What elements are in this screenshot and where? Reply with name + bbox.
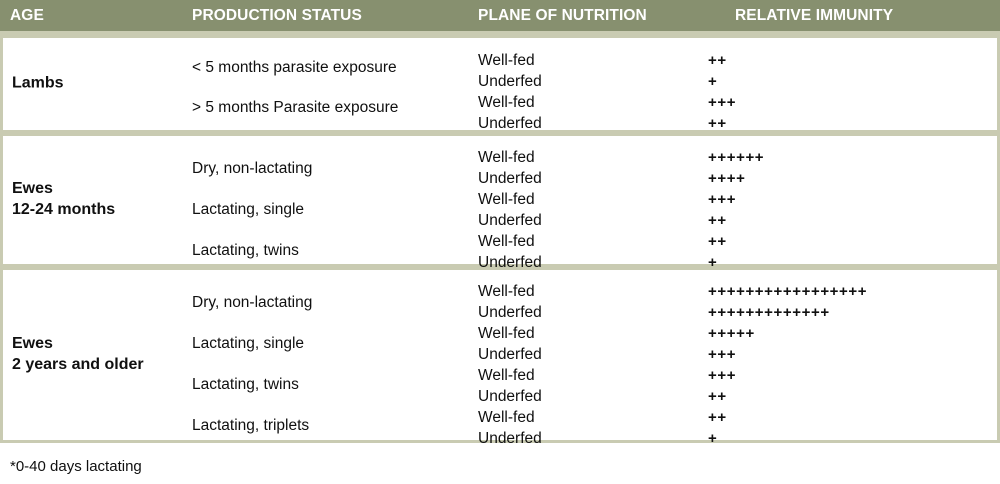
relative-immunity-cell: ++ [708,410,727,425]
relative-immunity-table: AGE PRODUCTION STATUS PLANE OF NUTRITION… [0,0,1000,484]
relative-immunity-cell: +++ [708,368,736,383]
production-status-cell: Lactating, twins [192,377,299,393]
relative-immunity-cell: ++ [708,389,727,404]
plane-of-nutrition-cell: Underfed [478,347,542,363]
production-status-cell: Dry, non-lactating [192,161,312,177]
plane-of-nutrition-cell: Well-fed [478,53,535,69]
age-label: Lambs [12,74,64,95]
production-status-cell: < 5 months parasite exposure [192,60,397,76]
relative-immunity-cell: +++ [708,95,736,110]
production-status-column: Dry, non-lactating Lactating, single Lac… [192,270,472,440]
plane-of-nutrition-cell: Underfed [478,116,542,132]
production-status-column: Dry, non-lactating Lactating, single Lac… [192,136,472,264]
relative-immunity-cell: ++ [708,213,727,228]
relative-immunity-cell: +++++++++++++ [708,305,830,320]
section-border-left [0,38,3,130]
relative-immunity-cell: ++++ [708,171,745,186]
plane-of-nutrition-cell: Well-fed [478,234,535,250]
column-header-plane-of-nutrition: PLANE OF NUTRITION [478,7,647,25]
relative-immunity-cell: +++ [708,192,736,207]
plane-of-nutrition-cell: Well-fed [478,284,535,300]
table-header-row: AGE PRODUCTION STATUS PLANE OF NUTRITION… [0,0,1000,31]
plane-of-nutrition-cell: Underfed [478,389,542,405]
table-section-ewes-12-24-months: Ewes 12-24 months Dry, non-lactating Lac… [0,133,1000,267]
column-header-production-status: PRODUCTION STATUS [192,7,362,25]
plane-of-nutrition-cell: Underfed [478,74,542,90]
plane-of-nutrition-cell: Well-fed [478,192,535,208]
relative-immunity-cell: ++ [708,234,727,249]
plane-of-nutrition-cell: Well-fed [478,95,535,111]
plane-of-nutrition-cell: Underfed [478,305,542,321]
plane-of-nutrition-cell: Well-fed [478,410,535,426]
plane-of-nutrition-cell: Underfed [478,171,542,187]
section-border-left [0,136,3,264]
age-label: Ewes 2 years and older [12,334,144,376]
production-status-cell: > 5 months Parasite exposure [192,100,398,116]
table-footnote: *0-40 days lactating [10,458,142,475]
relative-immunity-cell: +++++++++++++++++ [708,284,867,299]
production-status-cell: Lactating, twins [192,243,299,259]
column-header-age: AGE [10,7,44,25]
relative-immunity-cell: +++ [708,347,736,362]
production-status-column: < 5 months parasite exposure > 5 months … [192,38,472,130]
relative-immunity-cell: + [708,74,717,89]
table-section-lambs: Lambs < 5 months parasite exposure > 5 m… [0,35,1000,133]
plane-of-nutrition-cell: Underfed [478,213,542,229]
production-status-cell: Lactating, single [192,336,304,352]
plane-of-nutrition-cell: Well-fed [478,326,535,342]
plane-of-nutrition-cell: Underfed [478,431,542,447]
relative-immunity-cell: + [708,431,717,446]
production-status-cell: Lactating, single [192,202,304,218]
production-status-cell: Lactating, triplets [192,418,309,434]
relative-immunity-cell: +++++ [708,326,755,341]
relative-immunity-cell: ++ [708,116,727,131]
column-header-relative-immunity: RELATIVE IMMUNITY [735,7,893,25]
relative-immunity-cell: ++++++ [708,150,764,165]
relative-immunity-cell: ++ [708,53,727,68]
section-border-left [0,270,3,440]
production-status-cell: Dry, non-lactating [192,295,312,311]
age-label: Ewes 12-24 months [12,179,115,221]
plane-of-nutrition-cell: Well-fed [478,150,535,166]
table-section-ewes-2-years-and-older: Ewes 2 years and older Dry, non-lactatin… [0,267,1000,443]
plane-of-nutrition-cell: Well-fed [478,368,535,384]
